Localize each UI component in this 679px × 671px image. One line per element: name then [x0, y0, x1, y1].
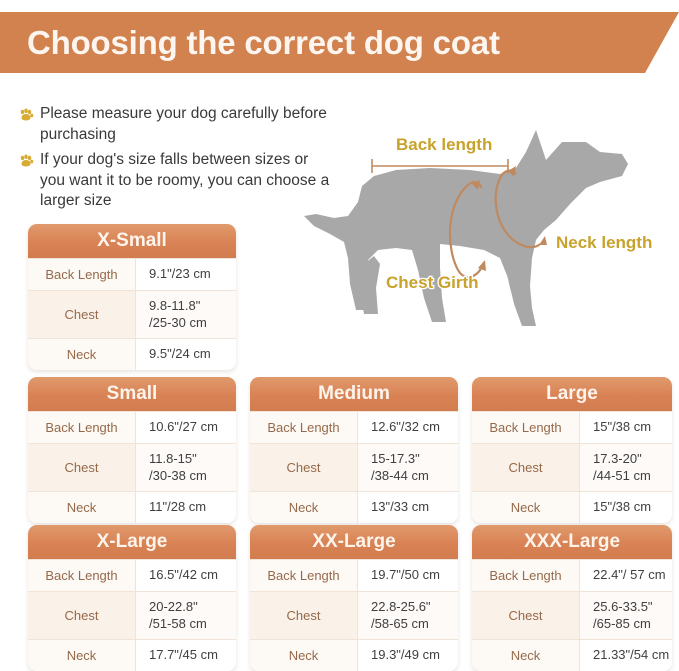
row-value: 20-22.8" /51-58 cm	[136, 592, 236, 639]
row-label: Neck	[250, 640, 358, 671]
row-value: 9.1"/23 cm	[136, 259, 236, 290]
size-table-small: Small Back Length 10.6"/27 cm Chest 11.8…	[28, 377, 236, 523]
row-label: Back Length	[250, 560, 358, 591]
size-table-header: Medium	[250, 377, 458, 411]
row-value: 19.3"/49 cm	[358, 640, 458, 671]
row-label: Neck	[28, 640, 136, 671]
row-value: 9.8-11.8" /25-30 cm	[136, 291, 236, 338]
table-row: Chest 9.8-11.8" /25-30 cm	[28, 290, 236, 338]
row-value: 11"/28 cm	[136, 492, 236, 523]
size-table-header: X-Large	[28, 525, 236, 559]
table-row: Chest 11.8-15" /30-38 cm	[28, 443, 236, 491]
chest-girth-label: Chest Girth	[386, 273, 479, 292]
size-table-header: XXX-Large	[472, 525, 672, 559]
table-row: Chest 17.3-20" /44-51 cm	[472, 443, 672, 491]
row-label: Back Length	[250, 412, 358, 443]
row-value: 21.33"/54 cm	[580, 640, 672, 671]
table-row: Back Length 15"/38 cm	[472, 411, 672, 443]
row-value: 17.7"/45 cm	[136, 640, 236, 671]
row-label: Back Length	[472, 560, 580, 591]
row-label: Back Length	[28, 412, 136, 443]
size-table-xx-large: XX-Large Back Length 19.7"/50 cm Chest 2…	[250, 525, 458, 671]
table-row: Chest 20-22.8" /51-58 cm	[28, 591, 236, 639]
instruction-item: Please measure your dog carefully before…	[18, 104, 336, 145]
dog-silhouette-icon	[304, 130, 628, 326]
table-row: Neck 11"/28 cm	[28, 491, 236, 523]
row-value: 15"/38 cm	[580, 412, 672, 443]
row-label: Chest	[250, 592, 358, 639]
row-label: Neck	[28, 492, 136, 523]
neck-length-label: Neck length	[556, 233, 652, 252]
row-value: 15"/38 cm	[580, 492, 672, 523]
size-table-large: Large Back Length 15"/38 cm Chest 17.3-2…	[472, 377, 672, 523]
size-table-header: XX-Large	[250, 525, 458, 559]
instruction-text: If your dog's size falls between sizes o…	[40, 150, 336, 212]
table-row: Back Length 16.5"/42 cm	[28, 559, 236, 591]
instruction-text: Please measure your dog carefully before…	[40, 104, 336, 145]
table-row: Back Length 10.6"/27 cm	[28, 411, 236, 443]
row-label: Neck	[472, 492, 580, 523]
instructions-list: Please measure your dog carefully before…	[18, 104, 336, 217]
row-value: 12.6"/32 cm	[358, 412, 458, 443]
table-row: Back Length 22.4"/ 57 cm	[472, 559, 672, 591]
dog-measurement-diagram: Back length Neck length Chest Girth	[300, 108, 679, 360]
table-row: Neck 13"/33 cm	[250, 491, 458, 523]
size-table-header: Large	[472, 377, 672, 411]
table-row: Neck 21.33"/54 cm	[472, 639, 672, 671]
table-row: Neck 9.5"/24 cm	[28, 338, 236, 370]
size-table-header: X-Small	[28, 224, 236, 258]
row-value: 22.4"/ 57 cm	[580, 560, 672, 591]
row-label: Back Length	[472, 412, 580, 443]
size-table-xxx-large: XXX-Large Back Length 22.4"/ 57 cm Chest…	[472, 525, 672, 671]
table-row: Chest 15-17.3" /38-44 cm	[250, 443, 458, 491]
row-value: 22.8-25.6" /58-65 cm	[358, 592, 458, 639]
table-row: Neck 17.7"/45 cm	[28, 639, 236, 671]
row-label: Chest	[28, 444, 136, 491]
row-label: Chest	[250, 444, 358, 491]
chest-girth-arrow-icon	[478, 260, 486, 271]
size-table-medium: Medium Back Length 12.6"/32 cm Chest 15-…	[250, 377, 458, 523]
page-title: Choosing the correct dog coat	[0, 24, 500, 62]
row-label: Chest	[28, 592, 136, 639]
row-label: Chest	[28, 291, 136, 338]
size-table-header: Small	[28, 377, 236, 411]
row-label: Back Length	[28, 259, 136, 290]
table-row: Back Length 12.6"/32 cm	[250, 411, 458, 443]
row-label: Chest	[472, 444, 580, 491]
table-row: Back Length 9.1"/23 cm	[28, 258, 236, 290]
row-label: Back Length	[28, 560, 136, 591]
row-value: 11.8-15" /30-38 cm	[136, 444, 236, 491]
row-value: 25.6-33.5" /65-85 cm	[580, 592, 672, 639]
row-label: Neck	[28, 339, 136, 370]
paw-print-icon	[18, 107, 34, 123]
row-value: 19.7"/50 cm	[358, 560, 458, 591]
row-value: 13"/33 cm	[358, 492, 458, 523]
row-value: 9.5"/24 cm	[136, 339, 236, 370]
row-value: 15-17.3" /38-44 cm	[358, 444, 458, 491]
paw-print-icon	[18, 153, 34, 169]
size-table-x-large: X-Large Back Length 16.5"/42 cm Chest 20…	[28, 525, 236, 671]
table-row: Chest 22.8-25.6" /58-65 cm	[250, 591, 458, 639]
row-label: Chest	[472, 592, 580, 639]
table-row: Back Length 19.7"/50 cm	[250, 559, 458, 591]
neck-arrow-icon	[539, 236, 547, 245]
row-label: Neck	[472, 640, 580, 671]
back-length-label: Back length	[396, 135, 492, 154]
row-value: 16.5"/42 cm	[136, 560, 236, 591]
header-banner: Choosing the correct dog coat	[0, 12, 679, 73]
size-table-x-small: X-Small Back Length 9.1"/23 cm Chest 9.8…	[28, 224, 236, 370]
instruction-item: If your dog's size falls between sizes o…	[18, 150, 336, 212]
row-label: Neck	[250, 492, 358, 523]
row-value: 10.6"/27 cm	[136, 412, 236, 443]
table-row: Neck 19.3"/49 cm	[250, 639, 458, 671]
row-value: 17.3-20" /44-51 cm	[580, 444, 672, 491]
table-row: Neck 15"/38 cm	[472, 491, 672, 523]
table-row: Chest 25.6-33.5" /65-85 cm	[472, 591, 672, 639]
